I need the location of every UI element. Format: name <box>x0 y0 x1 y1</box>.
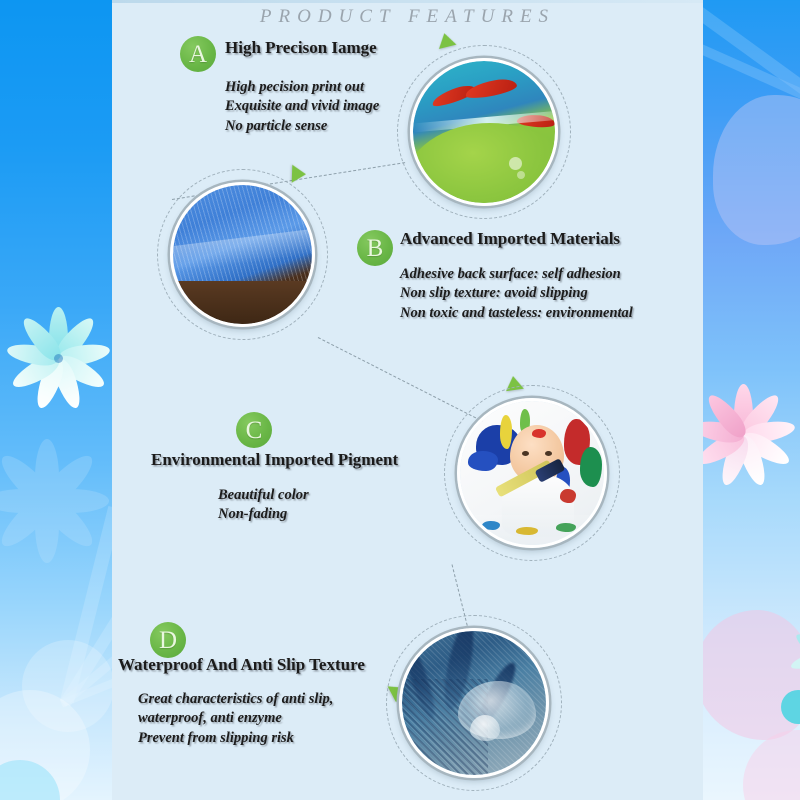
feature-c-photo <box>457 398 607 548</box>
blue-fabric-texture-photo <box>173 185 312 324</box>
left-flower-faded <box>46 500 47 501</box>
feature-b-ring <box>170 182 315 327</box>
feature-c-heading: Environmental Imported Pigment <box>151 450 398 470</box>
left-soft-blob-2 <box>22 640 112 732</box>
right-flower-pink <box>743 435 744 436</box>
arrow-top-a-icon <box>436 31 457 49</box>
arrow-a-to-b-icon <box>292 165 307 183</box>
baby-painting-photo <box>460 401 604 545</box>
feature-b-body: Adhesive back surface: self adhesion Non… <box>400 265 633 323</box>
badge-a: A <box>180 36 216 72</box>
badge-d: D <box>150 622 186 658</box>
left-decorative-panel <box>0 0 112 800</box>
feature-c-ring <box>457 398 607 548</box>
badge-b: B <box>357 230 393 266</box>
koi-fish-pond-print-photo <box>413 61 555 203</box>
feature-d-photo <box>399 628 549 778</box>
feature-a-body: High pecision print out Exquisite and vi… <box>225 78 379 136</box>
feature-a-heading: High Precison Iamge <box>225 38 377 58</box>
waterproof-droplet-texture-photo <box>402 631 546 775</box>
content-panel: PRODUCT FEATURES A High Precison Iamge H… <box>112 0 703 800</box>
feature-c-body: Beautiful color Non-fading <box>218 486 309 525</box>
feature-d-ring <box>399 628 549 778</box>
page-title: PRODUCT FEATURES <box>112 6 703 28</box>
product-features-poster: PRODUCT FEATURES A High Precison Iamge H… <box>0 0 800 800</box>
right-soft-blob-2 <box>703 610 800 740</box>
feature-d-body: Great characteristics of anti slip, wate… <box>138 690 333 748</box>
feature-d-heading: Waterproof And Anti Slip Texture <box>118 655 365 675</box>
left-flower-core <box>54 354 63 363</box>
feature-a-photo <box>410 58 558 206</box>
feature-a-ring <box>410 58 558 206</box>
feature-b-heading: Advanced Imported Materials <box>400 229 620 249</box>
badge-c: C <box>236 412 272 448</box>
right-decorative-panel <box>703 0 800 800</box>
feature-b-photo <box>170 182 315 327</box>
